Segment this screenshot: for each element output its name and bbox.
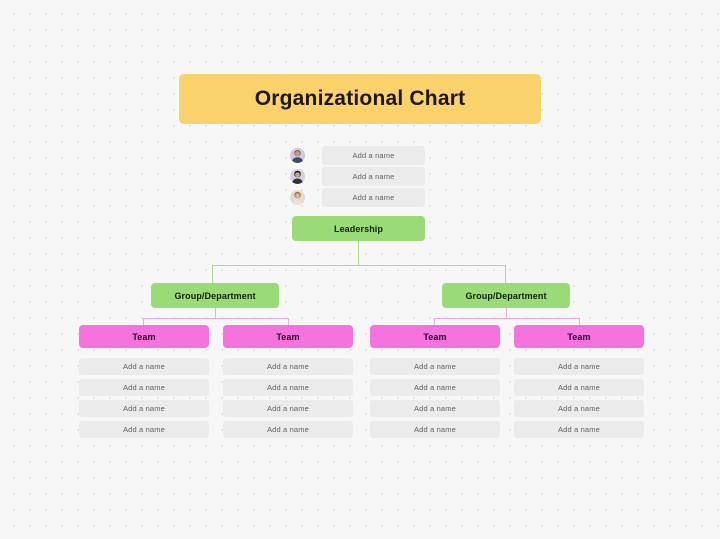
- leadership-label: Leadership: [334, 224, 383, 234]
- leadership-node[interactable]: Leadership: [292, 216, 425, 241]
- team-node-3[interactable]: Team: [370, 325, 500, 348]
- team-2-member-row-2[interactable]: Add a name: [223, 379, 353, 396]
- team-4-member-name-4: Add a name: [558, 425, 600, 434]
- team-4-member-row-4[interactable]: Add a name: [514, 421, 644, 438]
- team-2-member-name-1: Add a name: [267, 362, 309, 371]
- team-3-member-name-1: Add a name: [414, 362, 456, 371]
- connector-department-2-bus: [434, 318, 579, 319]
- connector-department-2-stem: [506, 308, 507, 318]
- team-label-1: Team: [132, 332, 155, 342]
- connector-department-1-stem: [215, 308, 216, 318]
- team-2-member-row-4[interactable]: Add a name: [223, 421, 353, 438]
- team-4-member-row-3[interactable]: Add a name: [514, 400, 644, 417]
- department-label-1: Group/Department: [174, 291, 255, 301]
- team-4-member-row-2[interactable]: Add a name: [514, 379, 644, 396]
- connector-department-1-bus: [143, 318, 288, 319]
- team-2-member-name-3: Add a name: [267, 404, 309, 413]
- person-avatar-3: [290, 190, 305, 205]
- team-label-4: Team: [567, 332, 590, 342]
- connector-team-3-drop: [434, 318, 435, 325]
- person-avatar-1: [290, 148, 305, 163]
- team-3-member-row-1[interactable]: Add a name: [370, 358, 500, 375]
- connector-team-4-drop: [579, 318, 580, 325]
- team-3-member-row-2[interactable]: Add a name: [370, 379, 500, 396]
- org-chart-canvas: Organizational Chart Add a name Add a na…: [0, 0, 720, 539]
- leadership-member-row-2[interactable]: Add a name: [322, 167, 425, 186]
- chart-title-banner[interactable]: Organizational Chart: [179, 74, 541, 124]
- team-2-member-row-1[interactable]: Add a name: [223, 358, 353, 375]
- team-2-member-name-2: Add a name: [267, 383, 309, 392]
- team-1-member-name-3: Add a name: [123, 404, 165, 413]
- team-4-member-name-2: Add a name: [558, 383, 600, 392]
- team-1-member-row-2[interactable]: Add a name: [79, 379, 209, 396]
- page-title: Organizational Chart: [255, 87, 466, 111]
- department-label-2: Group/Department: [465, 291, 546, 301]
- team-3-member-name-4: Add a name: [414, 425, 456, 434]
- connector-department-drop-right: [505, 265, 506, 283]
- team-1-member-name-1: Add a name: [123, 362, 165, 371]
- team-1-member-name-2: Add a name: [123, 383, 165, 392]
- team-3-member-name-2: Add a name: [414, 383, 456, 392]
- team-3-member-name-3: Add a name: [414, 404, 456, 413]
- team-4-member-name-3: Add a name: [558, 404, 600, 413]
- person-avatar-2: [290, 169, 305, 184]
- connector-team-1-drop: [143, 318, 144, 325]
- leadership-member-name-1: Add a name: [353, 151, 395, 160]
- team-1-member-row-1[interactable]: Add a name: [79, 358, 209, 375]
- team-3-member-row-4[interactable]: Add a name: [370, 421, 500, 438]
- team-node-2[interactable]: Team: [223, 325, 353, 348]
- leadership-member-name-3: Add a name: [353, 193, 395, 202]
- connector-leadership-bus: [212, 265, 506, 266]
- team-node-4[interactable]: Team: [514, 325, 644, 348]
- connector-department-drop-left: [212, 265, 213, 283]
- connector-leadership-stem: [358, 241, 359, 265]
- team-1-member-row-3[interactable]: Add a name: [79, 400, 209, 417]
- leadership-member-row-1[interactable]: Add a name: [322, 146, 425, 165]
- department-node-2[interactable]: Group/Department: [442, 283, 570, 308]
- leadership-member-name-2: Add a name: [353, 172, 395, 181]
- team-4-member-name-1: Add a name: [558, 362, 600, 371]
- department-node-1[interactable]: Group/Department: [151, 283, 279, 308]
- team-4-member-row-1[interactable]: Add a name: [514, 358, 644, 375]
- team-1-member-name-4: Add a name: [123, 425, 165, 434]
- team-node-1[interactable]: Team: [79, 325, 209, 348]
- connector-team-2-drop: [288, 318, 289, 325]
- team-label-3: Team: [423, 332, 446, 342]
- team-3-member-row-3[interactable]: Add a name: [370, 400, 500, 417]
- team-label-2: Team: [276, 332, 299, 342]
- leadership-member-row-3[interactable]: Add a name: [322, 188, 425, 207]
- team-2-member-name-4: Add a name: [267, 425, 309, 434]
- team-1-member-row-4[interactable]: Add a name: [79, 421, 209, 438]
- team-2-member-row-3[interactable]: Add a name: [223, 400, 353, 417]
